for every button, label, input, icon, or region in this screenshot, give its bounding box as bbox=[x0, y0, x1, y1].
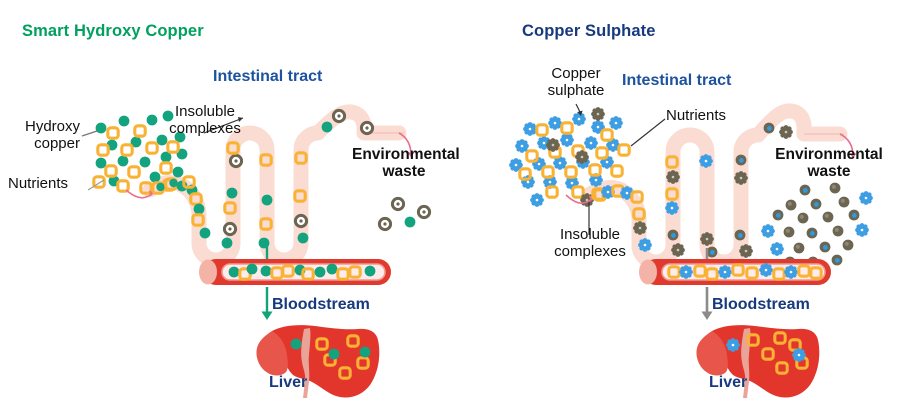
arrow-to-liver-right bbox=[702, 287, 713, 320]
label-hydroxy-copper: Hydroxy copper bbox=[0, 119, 80, 153]
label-hydroxy-copper-line2: copper bbox=[34, 135, 80, 152]
label-env-waste-right-line2: waste bbox=[807, 163, 850, 180]
label-nutrients-right: Nutrients bbox=[666, 108, 726, 125]
label-hydroxy-copper-line1: Hydroxy bbox=[25, 118, 80, 135]
label-bloodstream-right: Bloodstream bbox=[712, 296, 810, 314]
right-panel-graphics bbox=[450, 0, 900, 407]
label-insoluble-complexes-right: Insoluble complexes bbox=[538, 227, 642, 261]
label-environmental-waste-left: Environmental waste bbox=[352, 146, 456, 181]
blood-vessel-left bbox=[199, 259, 391, 285]
label-copper-sulphate: Copper sulphate bbox=[530, 66, 622, 100]
label-insoluble-complexes-left: Insoluble complexes bbox=[155, 104, 255, 138]
label-insoluble-right-line2: complexes bbox=[554, 243, 626, 260]
label-liver-right: Liver bbox=[709, 374, 747, 392]
blood-vessel-right bbox=[639, 259, 831, 285]
arrow-to-liver-left bbox=[262, 287, 273, 320]
label-env-waste-right-line1: Environmental bbox=[775, 146, 883, 163]
label-copper-sulphate-line1: Copper bbox=[551, 65, 600, 82]
panel-smart-hydroxy-copper: Smart Hydroxy Copper Intestinal tract bbox=[0, 0, 450, 407]
label-insoluble-right-line1: Insoluble bbox=[560, 226, 620, 243]
label-liver-left: Liver bbox=[269, 374, 307, 392]
label-env-waste-left-line1: Environmental bbox=[352, 146, 460, 163]
label-insoluble-left-line2: complexes bbox=[169, 120, 241, 137]
leader-hydroxy-copper-left bbox=[82, 131, 97, 136]
panel-copper-sulphate: Copper Sulphate Intestinal tract bbox=[450, 0, 900, 407]
label-env-waste-left-line2: waste bbox=[382, 163, 425, 180]
label-environmental-waste-right: Environmental waste bbox=[773, 146, 885, 181]
label-insoluble-left-line1: Insoluble bbox=[175, 103, 235, 120]
environmental-waste-pile-left bbox=[379, 198, 429, 229]
left-panel-graphics bbox=[0, 0, 450, 407]
label-nutrients-left: Nutrients bbox=[8, 176, 68, 193]
environmental-waste-pile-right bbox=[761, 183, 873, 268]
leader-nutrients-right bbox=[631, 119, 665, 146]
label-copper-sulphate-line2: sulphate bbox=[548, 82, 605, 99]
label-bloodstream-left: Bloodstream bbox=[272, 296, 370, 314]
